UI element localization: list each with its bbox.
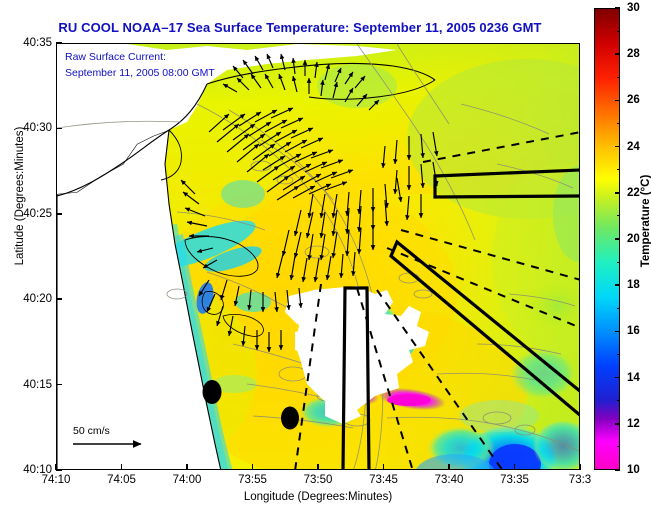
colorbar-tick-label: 18 bbox=[627, 279, 640, 291]
map-plot-area: Raw Surface Current: September 11, 2005 … bbox=[56, 43, 580, 470]
x-tick-mark bbox=[252, 464, 254, 470]
sst-field: Raw Surface Current: September 11, 2005 … bbox=[57, 44, 579, 469]
sst-map-figure: RU COOL NOAA–17 Sea Surface Temperature:… bbox=[0, 0, 651, 518]
x-tick-label: 73:35 bbox=[500, 474, 529, 486]
colorbar-minor-tick bbox=[617, 169, 620, 170]
colorbar-tick-mark bbox=[615, 377, 620, 379]
x-tick-label: 73:40 bbox=[435, 474, 464, 486]
colorbar-tick-mark bbox=[615, 100, 620, 102]
colorbar-minor-tick bbox=[617, 123, 620, 124]
colorbar-minor-tick bbox=[617, 77, 620, 78]
y-tick-mark bbox=[56, 213, 62, 215]
colorbar-tick-label: 14 bbox=[627, 372, 640, 384]
colorbar-tick-label: 22 bbox=[627, 187, 640, 199]
y-tick-label: 40:15 bbox=[23, 379, 52, 391]
station-marker bbox=[203, 380, 222, 404]
colorbar-tick-mark bbox=[615, 238, 620, 240]
figure-title: RU COOL NOAA–17 Sea Surface Temperature:… bbox=[0, 20, 600, 35]
x-tick-mark bbox=[514, 464, 516, 470]
colorbar-minor-tick bbox=[617, 400, 620, 401]
x-tick-label: 74:10 bbox=[42, 474, 71, 486]
colorbar-tick-label: 28 bbox=[627, 48, 640, 60]
annotation-line-1: Raw Surface Current: bbox=[65, 51, 166, 63]
x-tick-mark bbox=[579, 464, 581, 470]
colorbar-minor-tick bbox=[617, 31, 620, 32]
station-marker bbox=[281, 407, 299, 430]
y-tick-label: 40:35 bbox=[23, 37, 52, 49]
colorbar-tick-mark bbox=[615, 7, 620, 9]
x-tick-label: 73:55 bbox=[238, 474, 267, 486]
colorbar-minor-tick bbox=[617, 215, 620, 216]
scale-bar-label: 50 cm/s bbox=[73, 425, 110, 437]
colorbar-tick-mark bbox=[615, 146, 620, 148]
x-tick-label: 74:00 bbox=[173, 474, 202, 486]
x-tick-label: 73:3 bbox=[569, 474, 591, 486]
colorbar-tick-label: 26 bbox=[627, 94, 640, 106]
colorbar-tick-label: 30 bbox=[627, 2, 640, 14]
colorbar-minor-tick bbox=[617, 446, 620, 447]
x-tick-label: 73:45 bbox=[369, 474, 398, 486]
annotation-line-2: September 11, 2005 08:00 GMT bbox=[65, 67, 215, 79]
colorbar-tick-mark bbox=[615, 331, 620, 333]
colorbar-minor-tick bbox=[617, 354, 620, 355]
y-tick-label: 40:25 bbox=[23, 208, 52, 220]
colorbar-minor-tick bbox=[617, 308, 620, 309]
x-tick-label: 74:05 bbox=[107, 474, 136, 486]
colorbar-tick-mark bbox=[615, 423, 620, 425]
colorbar-tick-mark bbox=[615, 469, 620, 471]
sst-raster bbox=[57, 44, 580, 470]
x-tick-mark bbox=[317, 464, 319, 470]
scale-bar: 50 cm/s bbox=[73, 425, 110, 437]
colorbar-label: Temperature (°C) bbox=[640, 141, 651, 301]
colorbar-tick-mark bbox=[615, 284, 620, 286]
x-axis-label: Longitude (Degrees:Minutes) bbox=[56, 491, 580, 503]
y-tick-mark bbox=[56, 469, 62, 471]
x-tick-label: 73:50 bbox=[304, 474, 333, 486]
colorbar-tick-mark bbox=[615, 53, 620, 55]
colorbar-tick-label: 12 bbox=[627, 418, 640, 430]
y-tick-label: 40:20 bbox=[23, 293, 52, 305]
colorbar-tick-mark bbox=[615, 192, 620, 194]
y-tick-mark bbox=[56, 42, 62, 44]
x-tick-mark bbox=[55, 464, 57, 470]
x-tick-mark bbox=[448, 464, 450, 470]
y-tick-label: 40:30 bbox=[23, 122, 52, 134]
y-axis-ticks: 40:3540:3040:2540:2040:1540:10 bbox=[0, 0, 52, 518]
colorbar-minor-tick bbox=[617, 262, 620, 263]
colorbar-tick-label: 10 bbox=[627, 464, 640, 476]
colorbar-tick-label: 20 bbox=[627, 233, 640, 245]
y-tick-mark bbox=[56, 384, 62, 386]
x-axis-ticks: 74:1074:0574:0073:5573:5073:4573:4073:35… bbox=[0, 474, 651, 492]
y-axis-label: Latitude (Degrees:Minutes) bbox=[14, 96, 26, 296]
x-tick-mark bbox=[383, 464, 385, 470]
colorbar-tick-label: 24 bbox=[627, 141, 640, 153]
y-tick-mark bbox=[56, 298, 62, 300]
x-tick-mark bbox=[186, 464, 188, 470]
colorbar-tick-label: 16 bbox=[627, 325, 640, 337]
y-tick-mark bbox=[56, 128, 62, 130]
x-tick-mark bbox=[121, 464, 123, 470]
